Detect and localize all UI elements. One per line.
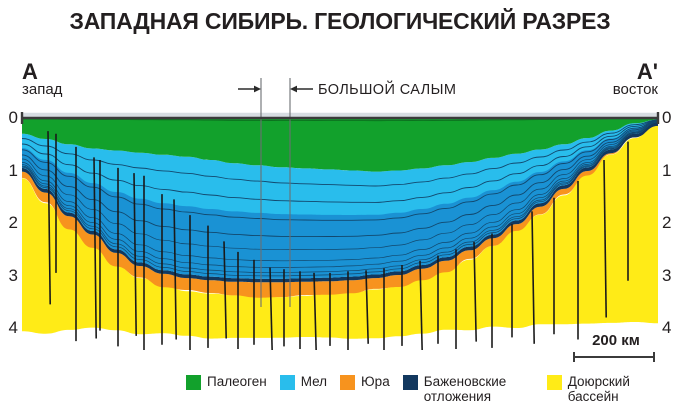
legend-swatch-icon xyxy=(186,375,201,390)
salym-arrow-right-head xyxy=(290,86,297,93)
legend-swatch-icon xyxy=(403,375,418,390)
scale-bar-line xyxy=(573,356,655,358)
legend-swatch-icon xyxy=(547,375,562,390)
legend-item-2: Мел xyxy=(280,374,327,390)
page-title: ЗАПАДНАЯ СИБИРЬ. ГЕОЛОГИЧЕСКИЙ РАЗРЕЗ xyxy=(0,8,680,35)
scale-bar xyxy=(573,352,655,361)
legend-label: Палеоген xyxy=(207,374,267,389)
salym-zone-arrows xyxy=(238,86,313,93)
scale-bar-tick-right xyxy=(653,352,655,362)
legend-label: Баженовские отложения xyxy=(424,374,534,404)
salym-arrow-left-head xyxy=(254,86,261,93)
legend-swatch-icon xyxy=(340,375,355,390)
legend-item-4: Баженовские отложения xyxy=(403,374,534,404)
legend-item-5: Доюрский бассейн xyxy=(547,374,678,404)
legend-swatch-icon xyxy=(280,375,295,390)
legend-item-3: Юра xyxy=(340,374,390,390)
legend-label: Мел xyxy=(301,374,327,389)
legend-label: Доюрский бассейн xyxy=(568,374,678,404)
geological-cross-section xyxy=(0,60,680,350)
legend-item-1: Палеоген xyxy=(186,374,267,390)
legend: ПалеогенМелЮраБаженовские отложенияДоюрс… xyxy=(186,374,678,404)
legend-label: Юра xyxy=(361,374,390,389)
